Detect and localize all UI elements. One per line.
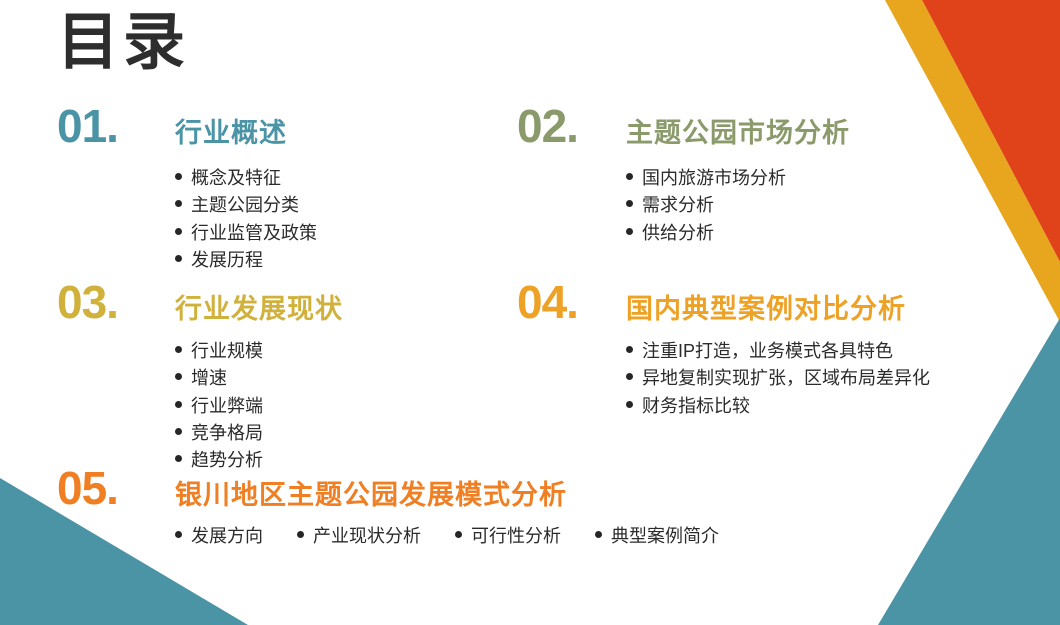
bullet-dot-icon [175, 531, 182, 538]
section-04-title: 国内典型案例对比分析 [626, 296, 906, 323]
bullet-dot-icon [175, 373, 182, 380]
list-item-label: 概念及特征 [191, 165, 281, 192]
section-03[interactable]: 03. 行业发展现状 行业规模 增速 行业弊端 竞争格局 [57, 279, 343, 475]
list-item-label: 行业监管及政策 [191, 220, 317, 247]
section-03-number: 03. [57, 279, 175, 325]
list-item[interactable]: 典型案例简介 [595, 522, 719, 548]
page-title: 目录 [57, 12, 189, 74]
section-02-number: 02. [517, 103, 626, 149]
section-05-title: 银川地区主题公园发展模式分析 [175, 482, 567, 509]
list-item[interactable]: 发展方向 [175, 522, 263, 548]
section-05[interactable]: 05. 银川地区主题公园发展模式分析 发展方向 产业现状分析 可行性分析 [57, 465, 719, 548]
list-item[interactable]: 需求分析 [626, 192, 850, 219]
list-item-label: 典型案例简介 [611, 522, 719, 548]
list-item[interactable]: 异地复制实现扩张，区域布局差异化 [626, 365, 930, 392]
list-item-label: 注重IP打造，业务模式各具特色 [642, 338, 893, 365]
list-item[interactable]: 行业规模 [175, 338, 343, 365]
section-03-heading: 03. 行业发展现状 [57, 279, 343, 325]
list-item[interactable]: 发展历程 [175, 247, 317, 274]
list-item-label: 发展历程 [191, 247, 263, 274]
section-02[interactable]: 02. 主题公园市场分析 国内旅游市场分析 需求分析 供给分析 [517, 103, 850, 247]
list-item[interactable]: 国内旅游市场分析 [626, 165, 850, 192]
section-04-number: 04. [517, 279, 626, 325]
bullet-dot-icon [175, 228, 182, 235]
section-05-bullet-list: 发展方向 产业现状分析 可行性分析 典型案例简介 [175, 522, 719, 548]
list-item[interactable]: 行业监管及政策 [175, 220, 317, 247]
section-02-heading: 02. 主题公园市场分析 [517, 103, 850, 149]
list-item-label: 可行性分析 [471, 522, 561, 548]
section-05-heading: 05. 银川地区主题公园发展模式分析 [57, 465, 719, 511]
list-item-label: 供给分析 [642, 220, 714, 247]
list-item-label: 主题公园分类 [191, 192, 299, 219]
section-03-bullet-list: 行业规模 增速 行业弊端 竞争格局 趋势分析 [175, 338, 343, 475]
list-item[interactable]: 供给分析 [626, 220, 850, 247]
list-item-label: 增速 [191, 365, 227, 392]
list-item-label: 行业弊端 [191, 393, 263, 420]
slide-canvas: 目录 01. 行业概述 概念及特征 主题公园分类 行业监管及政策 [0, 0, 1060, 625]
bullet-dot-icon [297, 531, 304, 538]
bullet-dot-icon [175, 401, 182, 408]
bullet-dot-icon [455, 531, 462, 538]
bullet-dot-icon [626, 200, 633, 207]
list-item-label: 需求分析 [642, 192, 714, 219]
section-04-heading: 04. 国内典型案例对比分析 [517, 279, 930, 325]
list-item[interactable]: 产业现状分析 [297, 522, 421, 548]
section-01[interactable]: 01. 行业概述 概念及特征 主题公园分类 行业监管及政策 发 [57, 103, 317, 274]
list-item-label: 行业规模 [191, 338, 263, 365]
list-item[interactable]: 竞争格局 [175, 420, 343, 447]
section-05-number: 05. [57, 465, 175, 511]
list-item[interactable]: 概念及特征 [175, 165, 317, 192]
bullet-dot-icon [626, 228, 633, 235]
section-02-title: 主题公园市场分析 [626, 120, 850, 147]
list-item[interactable]: 可行性分析 [455, 522, 561, 548]
section-01-bullet-list: 概念及特征 主题公园分类 行业监管及政策 发展历程 [175, 165, 317, 274]
list-item-label: 产业现状分析 [313, 522, 421, 548]
bullet-dot-icon [175, 346, 182, 353]
bullet-dot-icon [595, 531, 602, 538]
list-item[interactable]: 主题公园分类 [175, 192, 317, 219]
section-01-title: 行业概述 [175, 120, 287, 147]
list-item[interactable]: 行业弊端 [175, 393, 343, 420]
bullet-dot-icon [175, 255, 182, 262]
section-04-bullet-list: 注重IP打造，业务模式各具特色 异地复制实现扩张，区域布局差异化 财务指标比较 [626, 338, 930, 420]
bullet-dot-icon [626, 373, 633, 380]
section-03-title: 行业发展现状 [175, 296, 343, 323]
list-item-label: 异地复制实现扩张，区域布局差异化 [642, 365, 930, 392]
bullet-dot-icon [175, 428, 182, 435]
list-item[interactable]: 增速 [175, 365, 343, 392]
bullet-dot-icon [626, 401, 633, 408]
list-item-label: 财务指标比较 [642, 393, 750, 420]
list-item[interactable]: 财务指标比较 [626, 393, 930, 420]
bullet-dot-icon [175, 173, 182, 180]
bullet-dot-icon [626, 173, 633, 180]
list-item-label: 发展方向 [191, 522, 263, 548]
section-04[interactable]: 04. 国内典型案例对比分析 注重IP打造，业务模式各具特色 异地复制实现扩张，… [517, 279, 930, 420]
list-item-label: 竞争格局 [191, 420, 263, 447]
list-item-label: 国内旅游市场分析 [642, 165, 786, 192]
section-02-bullet-list: 国内旅游市场分析 需求分析 供给分析 [626, 165, 850, 247]
section-01-number: 01. [57, 103, 175, 149]
list-item[interactable]: 注重IP打造，业务模式各具特色 [626, 338, 930, 365]
bullet-dot-icon [626, 346, 633, 353]
section-01-heading: 01. 行业概述 [57, 103, 317, 149]
bullet-dot-icon [175, 200, 182, 207]
bullet-dot-icon [175, 455, 182, 462]
